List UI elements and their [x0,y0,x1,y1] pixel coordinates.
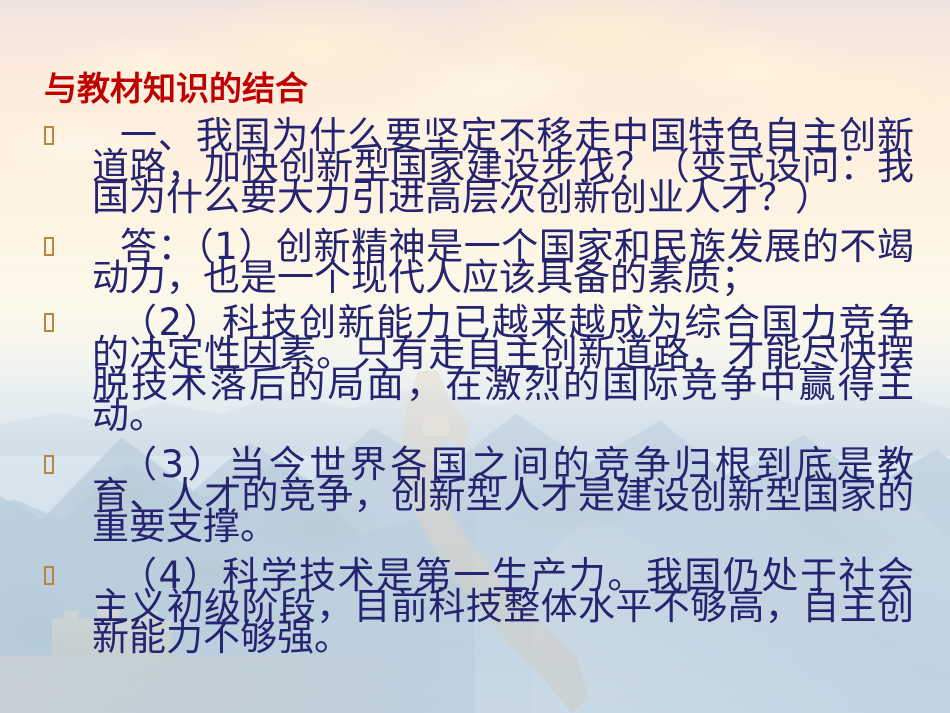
bullet-box-icon [44,455,54,474]
bullet-box-icon [44,126,54,145]
body-bullet-list: 一、我国为什么要坚定不移走中国特色自主创新道路，加快创新型国家建设步伐？（变式设… [0,120,950,653]
bullet-box-icon [44,237,54,256]
list-item: （3）当今世界各国之间的竞争归根到底是教育、人才的竞争，创新型人才是建设创新型国… [0,449,950,542]
list-item-text: 答：（1）创新精神是一个国家和民族发展的不竭动力，也是一个现代人应该具备的素质； [92,225,914,299]
list-item: 答：（1）创新精神是一个国家和民族发展的不竭动力，也是一个现代人应该具备的素质； [0,231,950,293]
list-item-text: （3）当今世界各国之间的竞争归根到底是教育、人才的竞争，创新型人才是建设创新型国… [92,443,914,548]
list-item-text: （4）科学技术是第一生产力。我国仍处于社会主义初级阶段，目前科技整体水平不够高，… [92,554,914,659]
bullet-box-icon [44,313,54,332]
list-item-text: （2）科技创新能力已越来越成为综合国力竞争的决定性因素。只有走自主创新道路，才能… [92,301,914,437]
list-item: （2）科技创新能力已越来越成为综合国力竞争的决定性因素。只有走自主创新道路，才能… [0,307,950,431]
presentation-slide: 与教材知识的结合 一、我国为什么要坚定不移走中国特色自主创新道路，加快创新型国家… [0,0,950,713]
bullet-box-icon [44,566,54,585]
slide-title: 与教材知识的结合 [44,72,308,105]
list-item-text: 一、我国为什么要坚定不移走中国特色自主创新道路，加快创新型国家建设步伐？（变式设… [92,114,914,219]
slide-content: 与教材知识的结合 一、我国为什么要坚定不移走中国特色自主创新道路，加快创新型国家… [0,0,950,713]
list-item: 一、我国为什么要坚定不移走中国特色自主创新道路，加快创新型国家建设步伐？（变式设… [0,120,950,213]
list-item: （4）科学技术是第一生产力。我国仍处于社会主义初级阶段，目前科技整体水平不够高，… [0,560,950,653]
